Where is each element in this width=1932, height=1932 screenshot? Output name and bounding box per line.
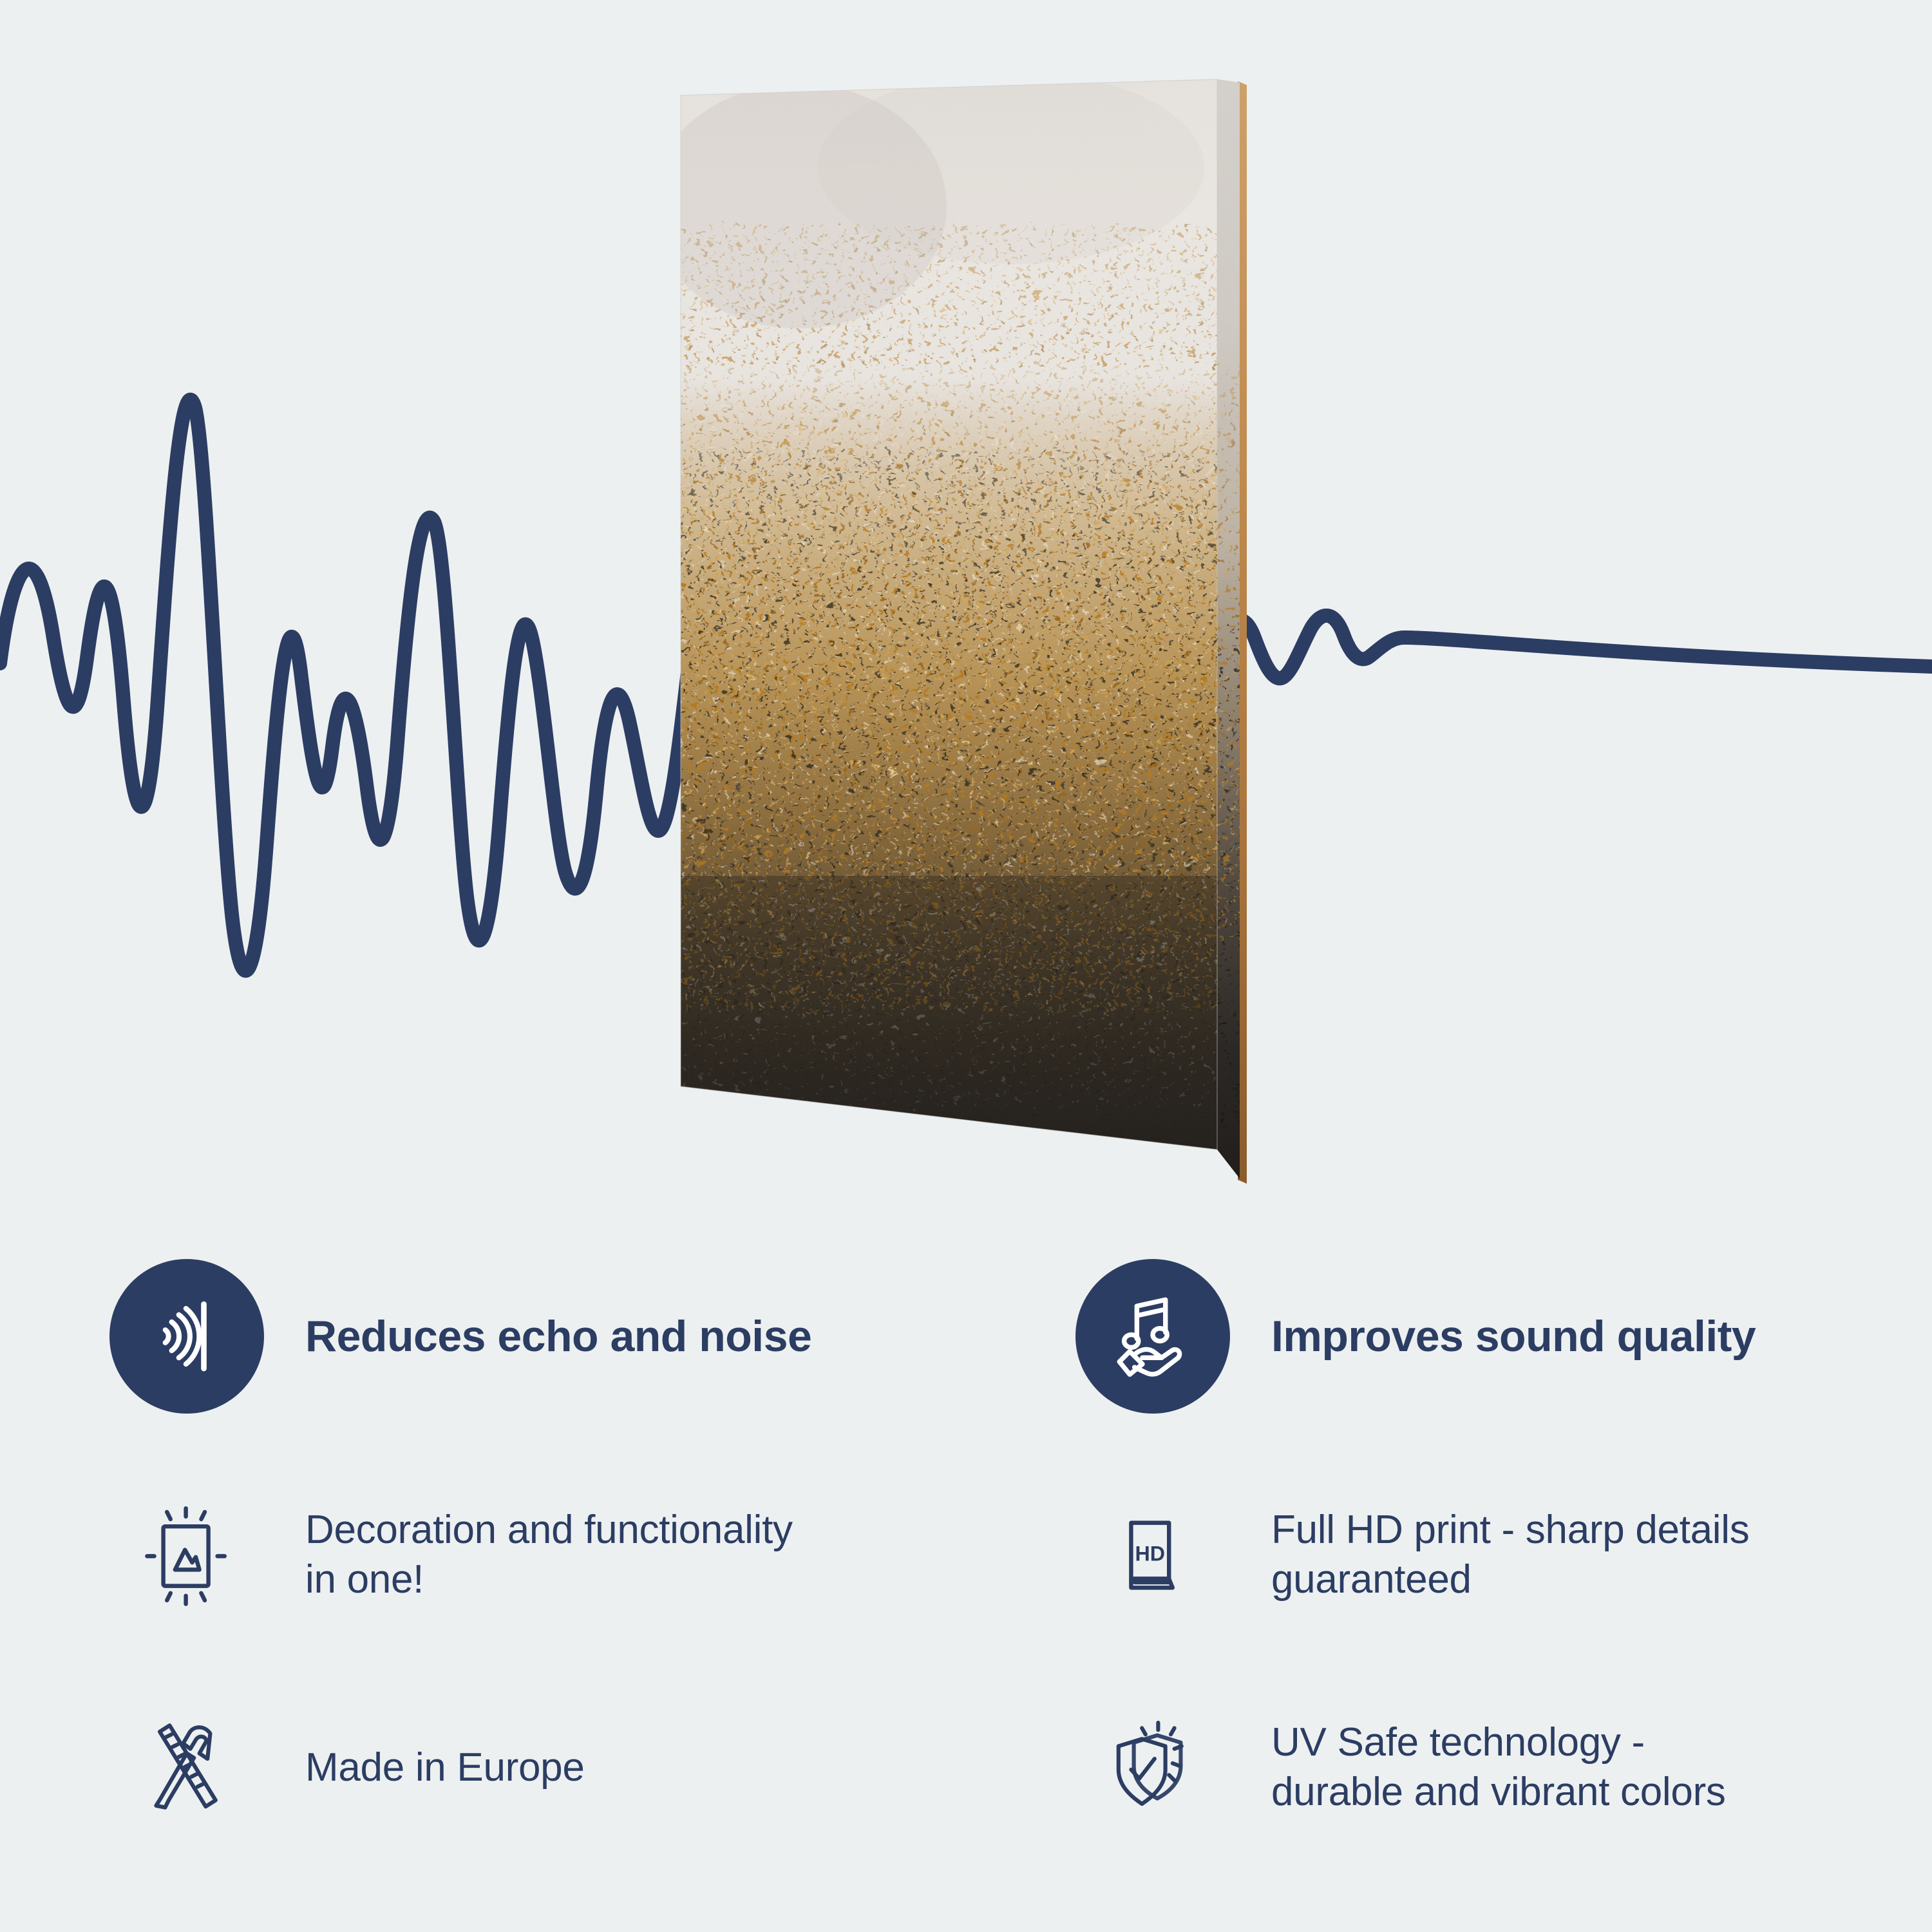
feature-label: Made in Europe [305,1743,585,1793]
ruler-hammer-icon [122,1703,251,1832]
feature-item-reduces-echo: Reduces echo and noise [109,1262,1011,1410]
feature-item-made-in-europe: Made in Europe [109,1694,1011,1842]
feature-label: Decoration and functionality in one! [305,1506,793,1605]
feature-list: Reduces echo and noise [0,1243,1932,1932]
feature-item-uv-safe: UV Safe technology - durable and vibrant… [1075,1694,1932,1842]
feature-item-improves-sound: Improves sound quality [1075,1262,1932,1410]
canvas-print [650,39,1282,1224]
shield-check-sun-icon [1088,1703,1217,1832]
feature-label: Full HD print - sharp details guaranteed [1271,1506,1749,1605]
svg-text:HD: HD [1135,1542,1166,1565]
hd-print-icon: HD [1088,1491,1217,1620]
infographic-root: Reduces echo and noise [0,0,1932,1932]
sound-wave-wall-icon [109,1259,264,1414]
feature-item-decoration-functionality: Decoration and functionality in one! [109,1481,1011,1629]
music-note-hand-icon [1075,1259,1230,1414]
feature-label: Reduces echo and noise [305,1309,811,1363]
framed-picture-shine-icon [122,1491,251,1620]
feature-label: UV Safe technology - durable and vibrant… [1271,1718,1726,1817]
feature-label: Improves sound quality [1271,1309,1756,1363]
feature-item-full-hd-print: HD Full HD print - sharp details guarant… [1075,1481,1932,1629]
